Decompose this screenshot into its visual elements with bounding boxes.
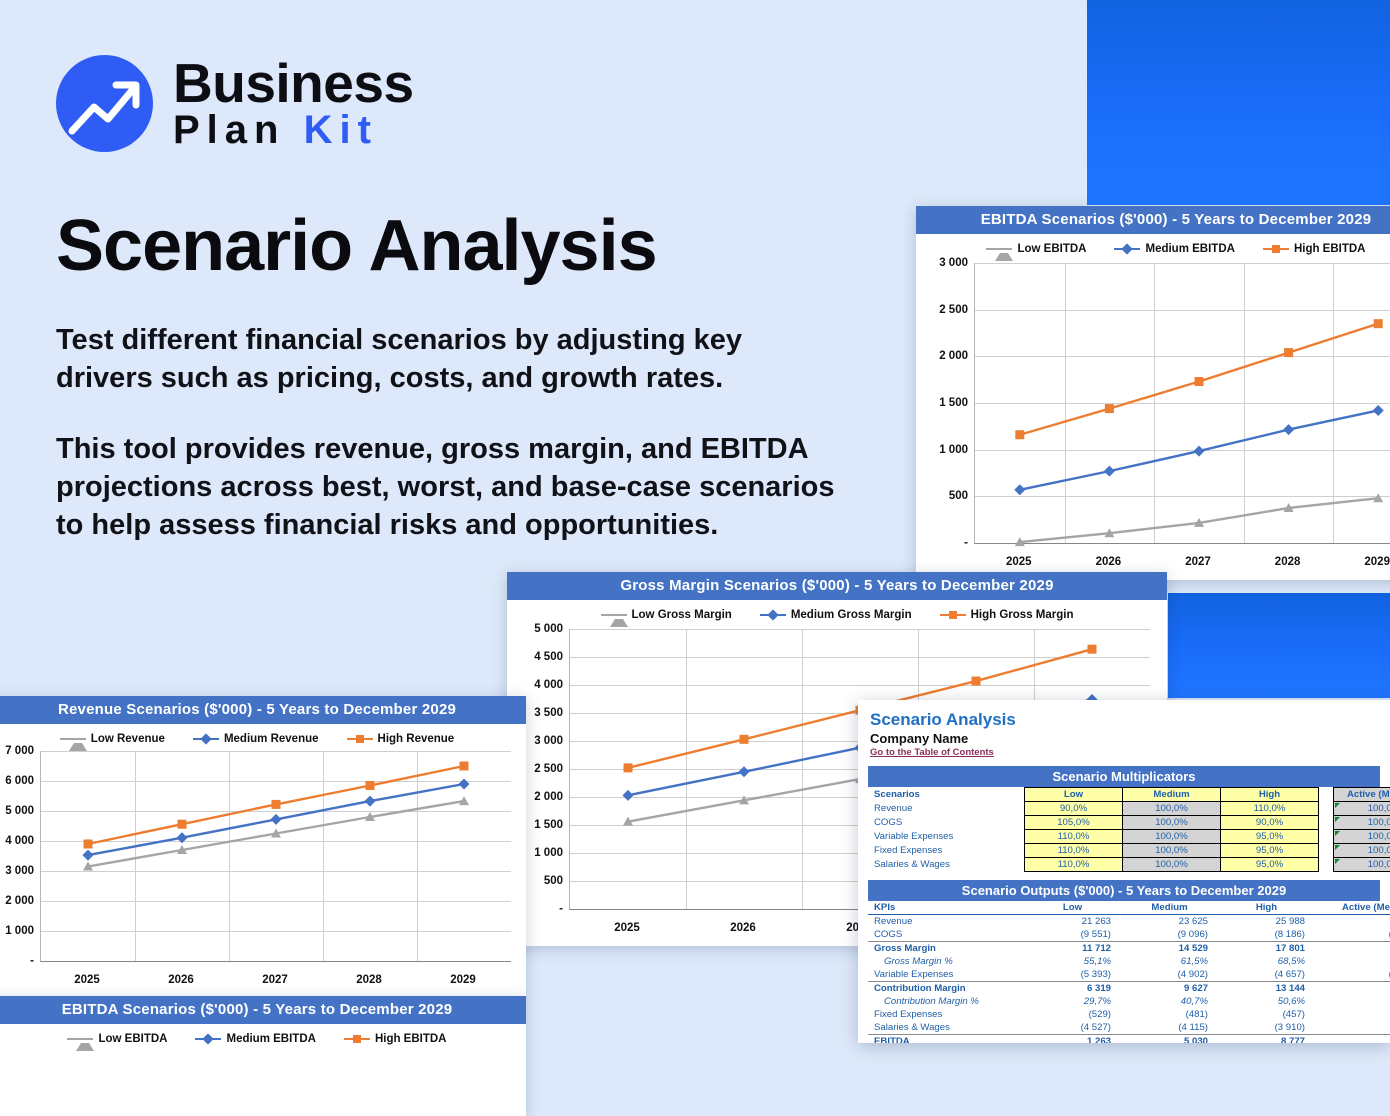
spacer-cell <box>1319 844 1334 858</box>
y-axis-tick-label: 2 500 <box>939 304 968 316</box>
scenario-analysis-sheet: Scenario Analysis Company Name Go to the… <box>858 700 1390 1043</box>
y-axis-tick-label: 2 000 <box>534 791 563 803</box>
kpi-cell-high: 8 777 <box>1218 1035 1315 1044</box>
x-axis-tick-label: 2026 <box>1096 556 1122 568</box>
kpi-cell-medium: (481) <box>1121 1008 1218 1021</box>
legend-item[interactable]: Low EBITDA <box>67 1033 167 1045</box>
kpi-cell-high: (4 657) <box>1218 968 1315 982</box>
decorative-blue-block-middle <box>1168 593 1390 698</box>
x-axis-tick-label: 2026 <box>730 922 756 934</box>
x-axis-tick-label: 2029 <box>450 974 476 986</box>
kpi-row-label: Contribution Margin <box>868 982 1024 996</box>
chart-panel-revenue: Revenue Scenarios ($'000) - 5 Years to D… <box>0 696 526 996</box>
mult-cell-high[interactable]: 90,0% <box>1221 816 1319 830</box>
legend-swatch <box>986 244 1012 254</box>
mult-header-active: Active (Medium) <box>1334 788 1390 802</box>
kpi-cell-medium: 9 627 <box>1121 982 1218 996</box>
x-axis-tick-label: 2028 <box>356 974 382 986</box>
kpi-header-active: Active (Medium) <box>1329 901 1390 915</box>
legend-marker-triangle-icon <box>610 611 628 627</box>
table-row: Fixed Expenses110,0%100,0%95,0%100,0% <box>868 844 1390 858</box>
kpi-cell-high: (457) <box>1218 1008 1315 1021</box>
kpi-cell-low: (5 393) <box>1024 968 1121 982</box>
legend-item[interactable]: High Revenue <box>347 733 455 745</box>
chart-title: Revenue Scenarios ($'000) - 5 Years to D… <box>0 696 526 724</box>
kpi-row-label: EBITDA <box>868 1035 1024 1044</box>
mult-header-low: Low <box>1025 788 1123 802</box>
spacer-cell <box>1319 802 1334 816</box>
mult-row-label: Salaries & Wages <box>868 858 1025 872</box>
kpi-cell-active: 5 030 <box>1329 1035 1390 1044</box>
kpi-cell-medium: 23 625 <box>1121 915 1218 929</box>
kpi-cell-active: 40,7% <box>1329 995 1390 1008</box>
mult-cell-medium[interactable]: 100,0% <box>1123 830 1221 844</box>
y-axis-tick-label: 3 000 <box>5 865 34 877</box>
scenario-multiplicators-band: Scenario Multiplicators <box>868 766 1380 787</box>
spacer-cell <box>1319 858 1334 872</box>
legend-marker-diamond-icon <box>200 733 211 744</box>
spacer-cell <box>1315 1035 1329 1044</box>
kpi-cell-high: 13 144 <box>1218 982 1315 996</box>
kpi-cell-high: 25 988 <box>1218 915 1315 929</box>
x-axis-tick-label: 2028 <box>1275 556 1301 568</box>
y-axis-tick-label: 2 500 <box>534 763 563 775</box>
y-axis-tick-label: 4 500 <box>534 651 563 663</box>
y-axis-tick-label: 2 000 <box>5 895 34 907</box>
spacer-cell <box>1315 1021 1329 1035</box>
mult-cell-low[interactable]: 90,0% <box>1025 802 1123 816</box>
y-axis-tick-label: 3 000 <box>939 257 968 269</box>
legend-item[interactable]: High Gross Margin <box>940 609 1074 621</box>
kpi-cell-low: 11 712 <box>1024 942 1121 956</box>
spacer-cell <box>1315 968 1329 982</box>
mult-row-label: Fixed Expenses <box>868 844 1025 858</box>
legend-marker-square-icon <box>1272 245 1280 253</box>
sheet-company-name: Company Name <box>858 730 1390 746</box>
mult-cell-low[interactable]: 110,0% <box>1025 858 1123 872</box>
table-row: Salaries & Wages(4 527)(4 115)(3 910)(4 … <box>868 1021 1390 1035</box>
kpi-cell-medium: 61,5% <box>1121 955 1218 968</box>
sheet-title: Scenario Analysis <box>858 700 1390 730</box>
legend-item[interactable]: Medium EBITDA <box>195 1033 315 1045</box>
legend-swatch <box>940 610 966 620</box>
kpi-row-label: Revenue <box>868 915 1024 929</box>
comment-marker-icon <box>1335 831 1340 836</box>
chart-plot: -5001 0001 5002 0002 5003 00020252026202… <box>916 263 1390 577</box>
legend-item[interactable]: High EBITDA <box>1263 243 1366 255</box>
kpi-cell-active: (481) <box>1329 1008 1390 1021</box>
legend-item[interactable]: Medium Revenue <box>193 733 319 745</box>
spacer-cell <box>1315 915 1329 929</box>
mult-cell-low[interactable]: 110,0% <box>1025 830 1123 844</box>
comment-marker-icon <box>1335 845 1340 850</box>
mult-cell-high[interactable]: 110,0% <box>1221 802 1319 816</box>
table-row: Contribution Margin %29,7%40,7%50,6%40,7… <box>868 995 1390 1008</box>
kpi-cell-active: 23 625 <box>1329 915 1390 929</box>
mult-cell-medium[interactable]: 100,0% <box>1123 858 1221 872</box>
kpi-header-low: Low <box>1024 901 1121 915</box>
legend-item[interactable]: Low EBITDA <box>986 243 1086 255</box>
chart-legend: Low EBITDAMedium EBITDAHigh EBITDA <box>916 234 1390 259</box>
kpi-row-label: Gross Margin % <box>868 955 1024 968</box>
hero-description: Test different financial scenarios by ad… <box>56 322 846 544</box>
spacer-cell <box>1319 830 1334 844</box>
brand-name-line1: Business <box>173 57 414 111</box>
hero-paragraph-1: Test different financial scenarios by ad… <box>56 322 846 397</box>
mult-header-medium: Medium <box>1123 788 1221 802</box>
kpi-cell-active: (4 115) <box>1329 1021 1390 1035</box>
mult-cell-medium[interactable]: 100,0% <box>1123 802 1221 816</box>
y-axis-tick-label: 1 000 <box>5 925 34 937</box>
legend-swatch <box>60 734 86 744</box>
brand-name-plan: Plan <box>173 108 285 152</box>
legend-item[interactable]: Medium Gross Margin <box>760 609 912 621</box>
table-of-contents-link[interactable]: Go to the Table of Contents <box>858 746 1390 758</box>
kpi-cell-active: (9 096) <box>1329 928 1390 942</box>
spacer-cell <box>1319 816 1334 830</box>
y-axis-labels: -5001 0001 5002 0002 5003 000 <box>916 263 974 543</box>
x-axis-tick-label: 2027 <box>262 974 288 986</box>
spacer-cell <box>1319 788 1334 802</box>
spacer-cell <box>1315 1008 1329 1021</box>
kpi-cell-low: 6 319 <box>1024 982 1121 996</box>
kpi-header-label: KPIs <box>868 901 1024 915</box>
kpi-cell-low: 55,1% <box>1024 955 1121 968</box>
kpi-cell-high: (8 186) <box>1218 928 1315 942</box>
table-row: Fixed Expenses(529)(481)(457)(481) <box>868 1008 1390 1021</box>
legend-label: High Revenue <box>378 733 455 745</box>
y-axis-tick-label: 5 000 <box>5 805 34 817</box>
legend-label: High Gross Margin <box>971 609 1074 621</box>
x-axis-tick-label: 2025 <box>74 974 100 986</box>
legend-label: Low Revenue <box>91 733 165 745</box>
mult-cell-low[interactable]: 105,0% <box>1025 816 1123 830</box>
legend-marker-diamond-icon <box>767 609 778 620</box>
kpi-cell-high: 68,5% <box>1218 955 1315 968</box>
mult-header-label: Scenarios <box>868 788 1025 802</box>
hero-paragraph-2: This tool provides revenue, gross margin… <box>56 431 846 544</box>
scenario-outputs-band: Scenario Outputs ($'000) - 5 Years to De… <box>868 880 1380 901</box>
kpi-cell-low: (4 527) <box>1024 1021 1121 1035</box>
legend-label: High EBITDA <box>1294 243 1366 255</box>
chart-title: EBITDA Scenarios ($'000) - 5 Years to De… <box>0 996 526 1024</box>
kpi-cell-high: (3 910) <box>1218 1021 1315 1035</box>
table-header-row: Scenarios Low Medium High Active (Medium… <box>868 788 1390 802</box>
legend-item[interactable]: Low Gross Margin <box>601 609 732 621</box>
y-axis-tick-label: 4 000 <box>5 835 34 847</box>
y-axis-tick-label: - <box>964 537 968 549</box>
y-axis-tick-label: 2 000 <box>939 350 968 362</box>
table-row: Salaries & Wages110,0%100,0%95,0%100,0% <box>868 858 1390 872</box>
kpi-cell-medium: (9 096) <box>1121 928 1218 942</box>
mult-row-label: Revenue <box>868 802 1025 816</box>
scenario-multiplicators-table: Scenarios Low Medium High Active (Medium… <box>868 787 1390 872</box>
spacer-cell <box>1315 982 1329 996</box>
legend-item[interactable]: Medium EBITDA <box>1114 243 1234 255</box>
y-axis-tick-label: 500 <box>949 490 968 502</box>
mult-cell-active: 100,0% <box>1334 802 1390 816</box>
kpi-row-label: COGS <box>868 928 1024 942</box>
x-axis-tick-label: 2025 <box>1006 556 1032 568</box>
mult-cell-active: 100,0% <box>1334 858 1390 872</box>
table-row: Revenue90,0%100,0%110,0%100,0% <box>868 802 1390 816</box>
kpi-cell-low: (529) <box>1024 1008 1121 1021</box>
kpi-cell-high: 50,6% <box>1218 995 1315 1008</box>
decorative-blue-block-top <box>1087 0 1390 205</box>
scenario-outputs-table: KPIs Low Medium High Active (Medium) Rev… <box>868 901 1390 1043</box>
legend-label: Medium Revenue <box>224 733 319 745</box>
table-row: Contribution Margin6 3199 62713 1449 627 <box>868 982 1390 996</box>
legend-swatch <box>193 734 219 744</box>
chart-panel-ebitda: EBITDA Scenarios ($'000) - 5 Years to De… <box>916 206 1390 580</box>
y-axis-tick-label: 1 500 <box>939 397 968 409</box>
comment-marker-icon <box>1335 817 1340 822</box>
legend-marker-triangle-icon <box>69 735 87 751</box>
mult-header-high: High <box>1221 788 1319 802</box>
legend-label: Low Gross Margin <box>632 609 732 621</box>
y-axis-tick-label: 5 000 <box>534 623 563 635</box>
x-axis-tick-label: 2026 <box>168 974 194 986</box>
kpi-header-medium: Medium <box>1121 901 1218 915</box>
growth-arrow-icon <box>56 55 153 152</box>
comment-marker-icon <box>1335 803 1340 808</box>
chart-legend: Low Gross MarginMedium Gross MarginHigh … <box>507 600 1167 625</box>
legend-swatch <box>347 734 373 744</box>
plot-area <box>40 751 511 962</box>
table-header-row: KPIs Low Medium High Active (Medium) <box>868 901 1390 915</box>
mult-cell-high[interactable]: 95,0% <box>1221 844 1319 858</box>
chart-plot: -1 0002 0003 0004 0005 0006 0007 0002025… <box>0 751 526 995</box>
legend-item[interactable]: High EBITDA <box>344 1033 447 1045</box>
y-axis-tick-label: - <box>559 903 563 915</box>
chart-title: Gross Margin Scenarios ($'000) - 5 Years… <box>507 572 1167 600</box>
y-axis-tick-label: 1 000 <box>939 444 968 456</box>
mult-cell-high[interactable]: 95,0% <box>1221 830 1319 844</box>
mult-cell-high[interactable]: 95,0% <box>1221 858 1319 872</box>
kpi-cell-medium: 40,7% <box>1121 995 1218 1008</box>
legend-marker-square-icon <box>356 735 364 743</box>
chart-title: EBITDA Scenarios ($'000) - 5 Years to De… <box>916 206 1390 234</box>
legend-swatch <box>1114 244 1140 254</box>
kpi-row-label: Contribution Margin % <box>868 995 1024 1008</box>
chart-legend: Low RevenueMedium RevenueHigh Revenue <box>0 724 526 749</box>
legend-label: Medium EBITDA <box>226 1033 315 1045</box>
x-axis-tick-label: 2027 <box>1185 556 1211 568</box>
chart-panel-ebitda-bottom: EBITDA Scenarios ($'000) - 5 Years to De… <box>0 996 526 1116</box>
legend-swatch <box>1263 244 1289 254</box>
table-row: Variable Expenses110,0%100,0%95,0%100,0% <box>868 830 1390 844</box>
table-row: Gross Margin %55,1%61,5%68,5%61,5% <box>868 955 1390 968</box>
legend-marker-triangle-icon <box>995 245 1013 261</box>
mult-cell-active: 100,0% <box>1334 816 1390 830</box>
kpi-cell-medium: (4 115) <box>1121 1021 1218 1035</box>
legend-marker-triangle-icon <box>76 1035 94 1051</box>
kpi-row-label: Gross Margin <box>868 942 1024 956</box>
table-row: EBITDA1 2635 0308 7775 030 <box>868 1035 1390 1044</box>
chart-legend: Low EBITDAMedium EBITDAHigh EBITDA <box>0 1024 526 1049</box>
plot-area <box>974 263 1390 544</box>
mult-cell-active: 100,0% <box>1334 844 1390 858</box>
legend-label: Medium Gross Margin <box>791 609 912 621</box>
kpi-row-label: Fixed Expenses <box>868 1008 1024 1021</box>
kpi-header-high: High <box>1218 901 1315 915</box>
legend-label: High EBITDA <box>375 1033 447 1045</box>
legend-label: Low EBITDA <box>98 1033 167 1045</box>
legend-swatch <box>601 610 627 620</box>
mult-row-label: Variable Expenses <box>868 830 1025 844</box>
legend-label: Low EBITDA <box>1017 243 1086 255</box>
legend-marker-square-icon <box>353 1035 361 1043</box>
kpi-row-label: Variable Expenses <box>868 968 1024 982</box>
y-axis-tick-label: 3 000 <box>534 735 563 747</box>
kpi-cell-low: 21 263 <box>1024 915 1121 929</box>
y-axis-tick-label: 6 000 <box>5 775 34 787</box>
table-row: Variable Expenses(5 393)(4 902)(4 657)(4… <box>868 968 1390 982</box>
kpi-cell-medium: (4 902) <box>1121 968 1218 982</box>
kpi-cell-low: 29,7% <box>1024 995 1121 1008</box>
brand-name-kit: Kit <box>304 108 378 152</box>
kpi-cell-active: 14 529 <box>1329 942 1390 956</box>
legend-swatch <box>760 610 786 620</box>
comment-marker-icon <box>1335 859 1340 864</box>
table-row: Gross Margin11 71214 52917 80114 529 <box>868 942 1390 956</box>
y-axis-tick-label: 7 000 <box>5 745 34 757</box>
mult-row-label: COGS <box>868 816 1025 830</box>
kpi-cell-active: (4 902) <box>1329 968 1390 982</box>
y-axis-tick-label: 500 <box>544 875 563 887</box>
y-axis-tick-label: 1 000 <box>534 847 563 859</box>
spacer-cell <box>1315 942 1329 956</box>
spacer-cell <box>1315 955 1329 968</box>
kpi-cell-high: 17 801 <box>1218 942 1315 956</box>
spacer-cell <box>1315 995 1329 1008</box>
kpi-cell-low: 1 263 <box>1024 1035 1121 1044</box>
brand-logo: Business Plan Kit <box>56 55 414 152</box>
y-axis-labels: -1 0002 0003 0004 0005 0006 0007 000 <box>0 751 40 961</box>
kpi-cell-medium: 5 030 <box>1121 1035 1218 1044</box>
kpi-cell-medium: 14 529 <box>1121 942 1218 956</box>
legend-marker-diamond-icon <box>1122 243 1133 254</box>
legend-label: Medium EBITDA <box>1145 243 1234 255</box>
x-axis-tick-label: 2025 <box>614 922 640 934</box>
mult-cell-active: 100,0% <box>1334 830 1390 844</box>
spacer-cell <box>1315 928 1329 942</box>
y-axis-tick-label: - <box>30 955 34 967</box>
kpi-cell-low: (9 551) <box>1024 928 1121 942</box>
y-axis-tick-label: 3 500 <box>534 707 563 719</box>
y-axis-tick-label: 1 500 <box>534 819 563 831</box>
table-row: COGS105,0%100,0%90,0%100,0% <box>868 816 1390 830</box>
kpi-cell-active: 9 627 <box>1329 982 1390 996</box>
table-row: COGS(9 551)(9 096)(8 186)(9 096) <box>868 928 1390 942</box>
page-title: Scenario Analysis <box>56 205 657 287</box>
spacer-cell <box>1315 901 1329 915</box>
kpi-row-label: Salaries & Wages <box>868 1021 1024 1035</box>
mult-cell-medium[interactable]: 100,0% <box>1123 844 1221 858</box>
kpi-cell-active: 61,5% <box>1329 955 1390 968</box>
table-row: Revenue21 26323 62525 98823 625 <box>868 915 1390 929</box>
legend-item[interactable]: Low Revenue <box>60 733 165 745</box>
y-axis-tick-label: 4 000 <box>534 679 563 691</box>
x-axis-tick-label: 2029 <box>1364 556 1390 568</box>
legend-marker-square-icon <box>949 611 957 619</box>
mult-cell-low[interactable]: 110,0% <box>1025 844 1123 858</box>
mult-cell-medium[interactable]: 100,0% <box>1123 816 1221 830</box>
